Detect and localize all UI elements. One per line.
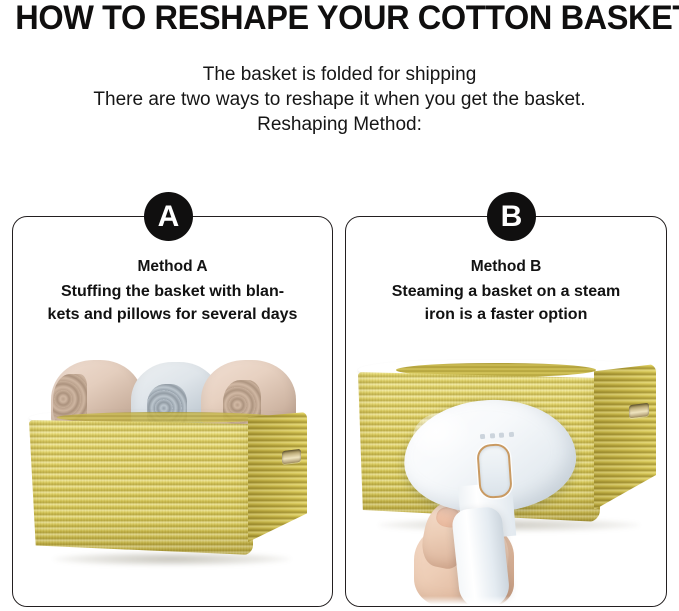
method-b-desc-line-1: Steaming a basket on a steam (354, 280, 658, 303)
basket-b-side-panel (594, 364, 656, 510)
method-b-desc-line-2: iron is a faster option (354, 303, 658, 326)
basket-a-side-panel (248, 412, 307, 542)
method-card-a: Method A Stuffing the basket with blan- … (12, 216, 333, 607)
subtitle-block: The basket is folded for shipping There … (0, 62, 679, 137)
subtitle-line-1: The basket is folded for shipping (0, 62, 679, 87)
basket-a-handle-cutout (282, 449, 301, 464)
basket-b-handle-cutout (629, 403, 649, 418)
infographic-root: HOW TO RESHAPE YOUR COTTON BASKET The ba… (0, 0, 679, 611)
basket-with-towels-illustration (13, 356, 332, 606)
method-a-badge: A (144, 192, 193, 241)
steamer-indicator-dot (509, 432, 514, 437)
page-title: HOW TO RESHAPE YOUR COTTON BASKET (15, 0, 663, 38)
method-b-text-block: Method B Steaming a basket on a steam ir… (346, 255, 666, 326)
method-a-heading: Method A (21, 255, 324, 278)
steamer-handle (451, 506, 511, 606)
method-b-badge: B (487, 192, 536, 241)
method-cards-row: Method A Stuffing the basket with blan- … (0, 216, 679, 611)
method-card-b: Method B Steaming a basket on a steam ir… (345, 216, 667, 607)
method-a-text-block: Method A Stuffing the basket with blan- … (13, 255, 332, 326)
basket-a-front-panel (29, 420, 253, 555)
method-a-desc-line-2: kets and pillows for several days (21, 303, 324, 326)
basket-with-steamer-illustration (346, 356, 666, 606)
garment-steamer (404, 400, 594, 606)
method-a-description: Stuffing the basket with blan- kets and … (21, 280, 324, 326)
steamer-indicator-dot (480, 434, 485, 439)
steamer-indicator-dot (499, 432, 504, 437)
method-a-photo (13, 356, 332, 606)
basket-a-drop-shadow (53, 552, 291, 566)
steamer-indicator-dot (489, 433, 494, 438)
method-b-photo (346, 356, 666, 606)
method-b-description: Steaming a basket on a steam iron is a f… (354, 280, 658, 326)
method-a-desc-line-1: Stuffing the basket with blan- (21, 280, 324, 303)
subtitle-line-3: Reshaping Method: (0, 112, 679, 137)
steamer-power-button[interactable] (476, 443, 513, 499)
subtitle-line-2: There are two ways to reshape it when yo… (0, 87, 679, 112)
method-b-heading: Method B (354, 255, 658, 278)
cotton-rope-basket-a (29, 410, 307, 570)
